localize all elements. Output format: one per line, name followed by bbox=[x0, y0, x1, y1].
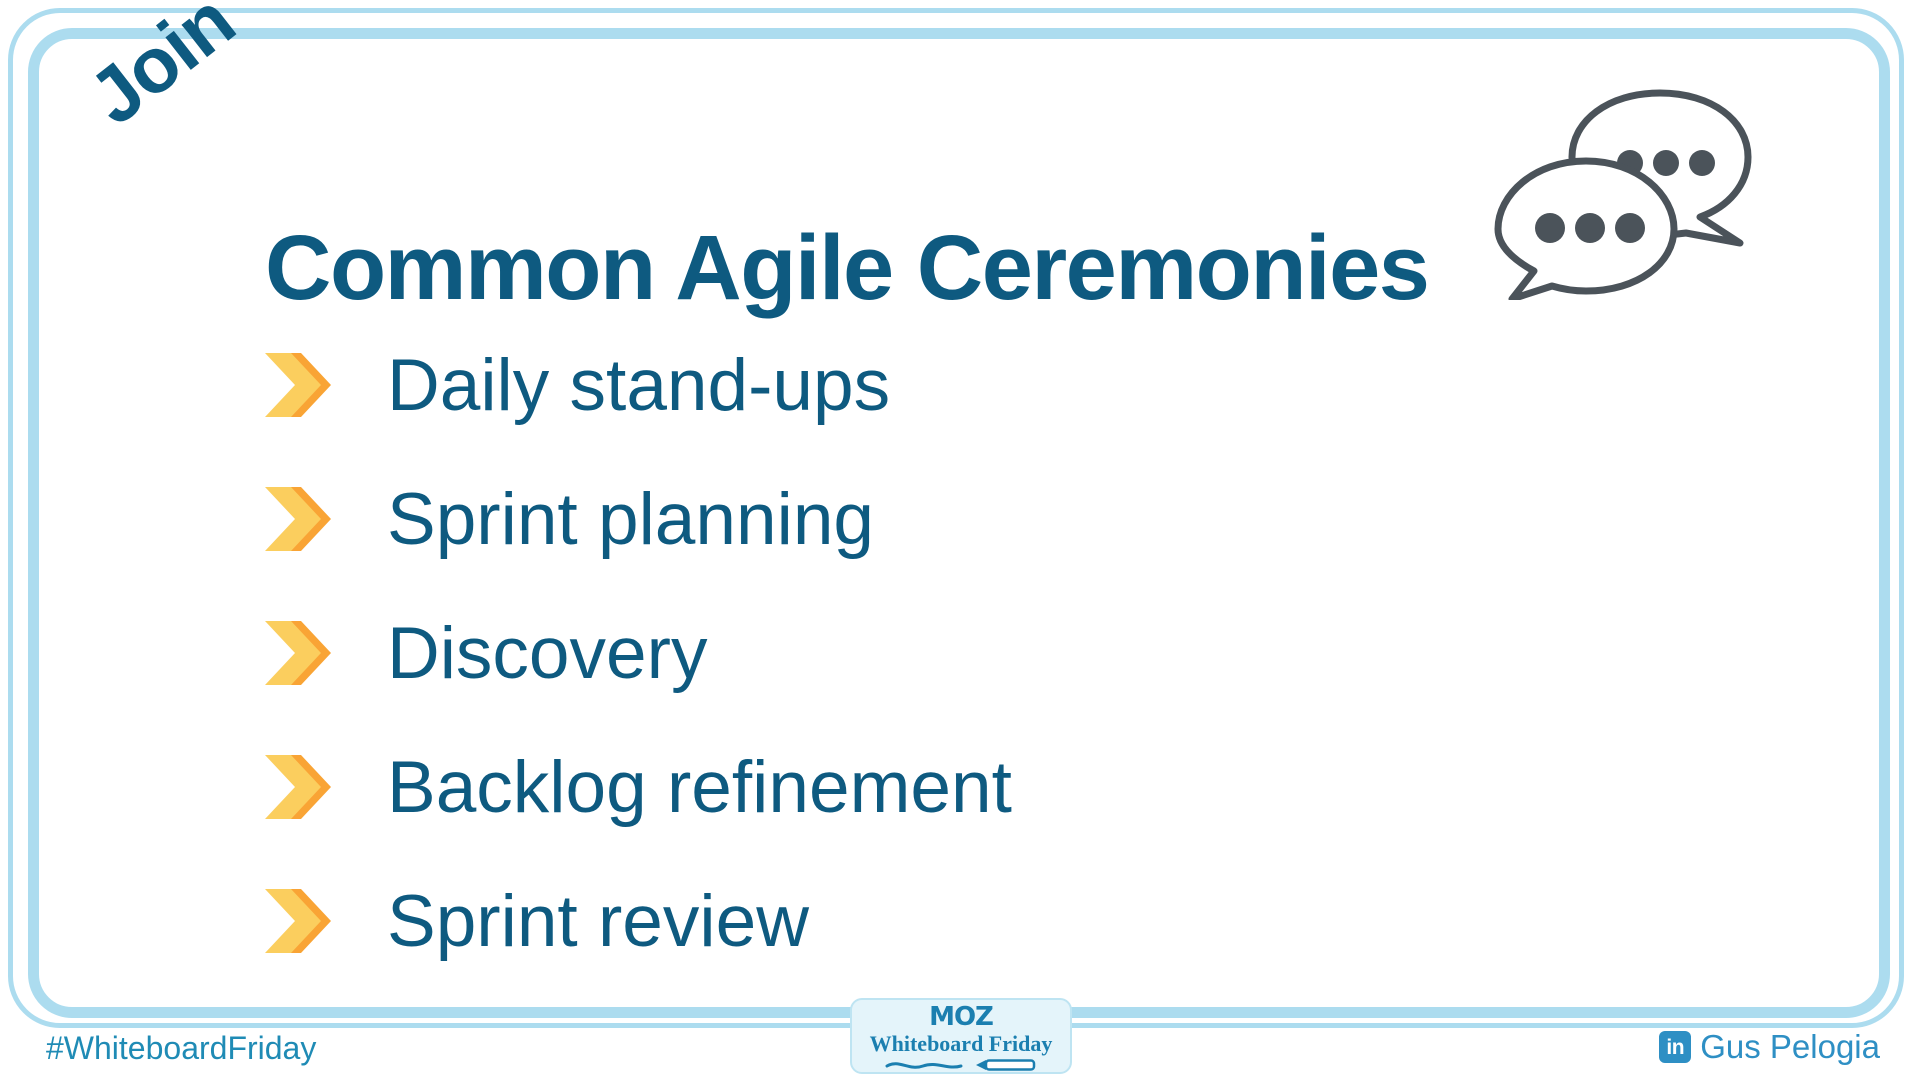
page-title: Common Agile Ceremonies bbox=[265, 222, 1428, 314]
bubble-front-dot-3 bbox=[1615, 213, 1645, 243]
double-chevron-icon bbox=[265, 485, 351, 553]
bubble-back-dot-2 bbox=[1653, 150, 1679, 176]
list-item-label: Sprint planning bbox=[387, 483, 874, 556]
list-item: Discovery bbox=[265, 586, 1465, 720]
speech-bubbles-icon bbox=[1490, 85, 1755, 300]
bubble-back-dot-3 bbox=[1689, 150, 1715, 176]
list-item: Sprint planning bbox=[265, 452, 1465, 586]
list-item-label: Sprint review bbox=[387, 885, 809, 958]
double-chevron-icon bbox=[265, 887, 351, 955]
slide-canvas: Join Common Agile Ceremonies D bbox=[0, 0, 1920, 1080]
kicker-join: Join bbox=[72, 0, 251, 143]
marker-squiggle-icon bbox=[881, 1057, 1041, 1078]
moz-whiteboard-friday-badge: MOZ Whiteboard Friday bbox=[850, 998, 1072, 1074]
footer-hashtag: #WhiteboardFriday bbox=[46, 1030, 316, 1067]
moz-logo-text: MOZ bbox=[929, 1004, 993, 1030]
list-item: Sprint review bbox=[265, 854, 1465, 988]
whiteboard-friday-text: Whiteboard Friday bbox=[870, 1032, 1053, 1056]
double-chevron-icon bbox=[265, 619, 351, 687]
list-item: Daily stand-ups bbox=[265, 318, 1465, 452]
list-item: Backlog refinement bbox=[265, 720, 1465, 854]
author-name: Gus Pelogia bbox=[1700, 1028, 1880, 1066]
list-item-label: Backlog refinement bbox=[387, 751, 1012, 824]
footer-author[interactable]: in Gus Pelogia bbox=[1659, 1028, 1880, 1066]
linkedin-icon[interactable]: in bbox=[1659, 1031, 1691, 1063]
list-item-label: Discovery bbox=[387, 617, 707, 690]
ceremonies-list: Daily stand-ups Sprint planning Discover… bbox=[265, 318, 1465, 988]
double-chevron-icon bbox=[265, 753, 351, 821]
list-item-label: Daily stand-ups bbox=[387, 349, 890, 422]
bubble-front-dot-2 bbox=[1575, 213, 1605, 243]
bubble-front-dot-1 bbox=[1535, 213, 1565, 243]
double-chevron-icon bbox=[265, 351, 351, 419]
